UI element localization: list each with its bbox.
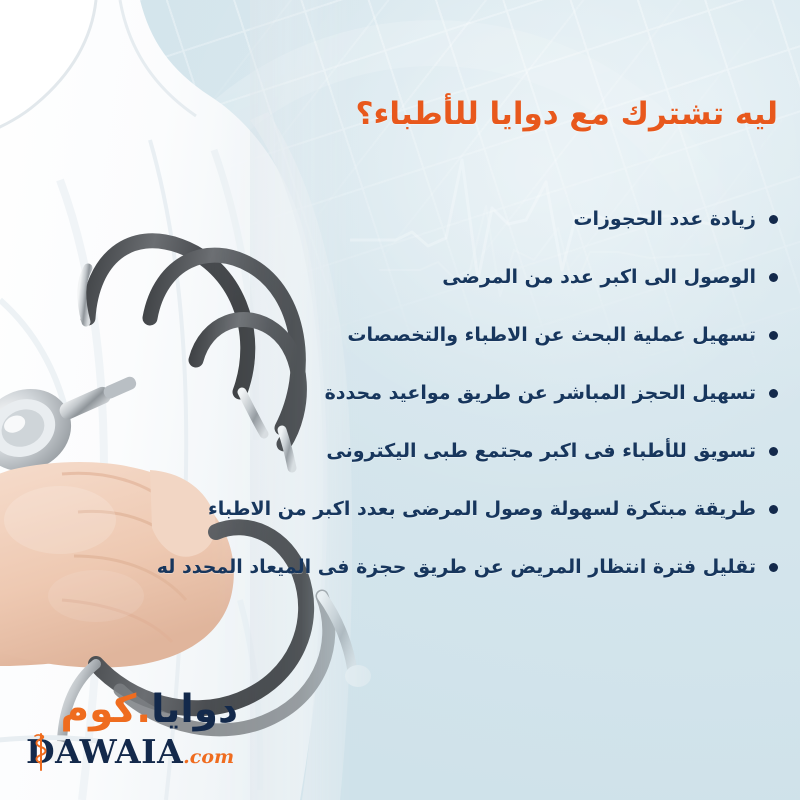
page-title: ليه تشترك مع دوايا للأطباء؟ <box>258 96 778 132</box>
brand-logo-arabic-suffix: .كوم <box>61 687 152 732</box>
list-item: طريقة مبتكرة لسهولة وصول المرضى بعدد اكب… <box>10 480 780 538</box>
benefits-list: زيادة عدد الحجوزات الوصول الى اكبر عدد م… <box>10 190 780 596</box>
list-item-label: تسويق للأطباء فى اكبر مجتمع طبى اليكترون… <box>326 440 756 462</box>
promo-poster: ليه تشترك مع دوايا للأطباء؟ زيادة عدد ال… <box>0 0 800 800</box>
bullet-dot-icon <box>769 389 778 398</box>
brand-logo-latin: DAWAIA.com <box>26 735 235 768</box>
bullet-dot-icon <box>769 447 778 456</box>
list-item: زيادة عدد الحجوزات <box>10 190 780 248</box>
brand-logo-arabic-name: دوايا <box>151 687 238 732</box>
brand-logo-latin-suffix: .com <box>183 746 234 768</box>
list-item: الوصول الى اكبر عدد من المرضى <box>10 248 780 306</box>
list-item-label: تقليل فترة انتظار المريض عن طريق حجزة فى… <box>157 556 756 578</box>
list-item-label: تسهيل الحجز المباشر عن طريق مواعيد محددة <box>325 382 756 404</box>
list-item: تسهيل عملية البحث عن الاطباء والتخصصات <box>10 306 780 364</box>
caduceus-icon <box>29 732 53 772</box>
brand-logo-arabic: دوايا.كوم <box>61 690 238 729</box>
bullet-dot-icon <box>769 331 778 340</box>
list-item: تسويق للأطباء فى اكبر مجتمع طبى اليكترون… <box>10 422 780 480</box>
list-item-label: طريقة مبتكرة لسهولة وصول المرضى بعدد اكب… <box>208 498 756 520</box>
bullet-dot-icon <box>769 505 778 514</box>
bullet-dot-icon <box>769 273 778 282</box>
list-item-label: تسهيل عملية البحث عن الاطباء والتخصصات <box>347 324 756 346</box>
brand-logo[interactable]: دوايا.كوم DAWAIA.com <box>16 690 246 782</box>
list-item-label: الوصول الى اكبر عدد من المرضى <box>442 266 756 288</box>
list-item: تقليل فترة انتظار المريض عن طريق حجزة فى… <box>10 538 780 596</box>
list-item-label: زيادة عدد الحجوزات <box>573 208 756 230</box>
list-item: تسهيل الحجز المباشر عن طريق مواعيد محددة <box>10 364 780 422</box>
bullet-dot-icon <box>769 215 778 224</box>
bullet-dot-icon <box>769 563 778 572</box>
